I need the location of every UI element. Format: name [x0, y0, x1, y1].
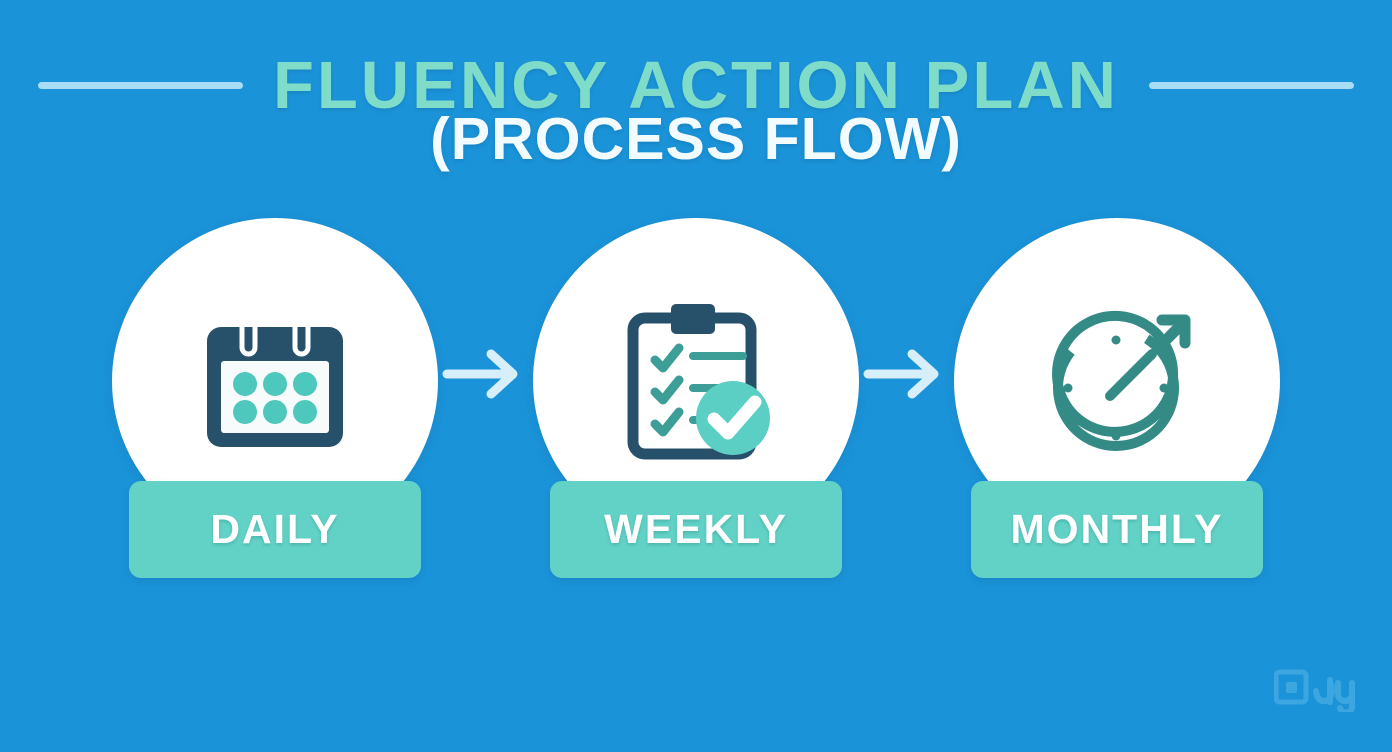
step-label-daily-text: DAILY: [210, 509, 339, 550]
page-subtitle: (PROCESS FLOW): [0, 110, 1392, 169]
step-label-monthly-text: MONTHLY: [1011, 509, 1224, 550]
step-label-monthly[interactable]: MONTHLY: [971, 481, 1263, 578]
flow-step-monthly[interactable]: MONTHLY: [954, 200, 1280, 578]
process-flow: DAILY: [0, 200, 1392, 590]
decorative-rule-right: [1149, 82, 1354, 89]
flow-arrow-weekly-to-monthly: [859, 200, 954, 578]
day-logo-watermark: [1274, 668, 1370, 712]
step-label-weekly[interactable]: WEEKLY: [550, 481, 842, 578]
step-label-weekly-text: WEEKLY: [604, 509, 788, 550]
calendar-icon: [190, 296, 360, 466]
page-header: FLUENCY ACTION PLAN (PROCESS FLOW): [0, 0, 1392, 190]
clipboard-check-icon: [611, 296, 781, 466]
flow-arrow-daily-to-weekly: [438, 200, 533, 578]
arrow-right-icon: [441, 344, 531, 404]
step-label-daily[interactable]: DAILY: [129, 481, 421, 578]
decorative-rule-left: [38, 82, 243, 89]
arrow-right-icon: [862, 344, 952, 404]
flow-step-daily[interactable]: DAILY: [112, 200, 438, 578]
clock-arrow-icon: [1032, 296, 1202, 466]
flow-step-weekly[interactable]: WEEKLY: [533, 200, 859, 578]
